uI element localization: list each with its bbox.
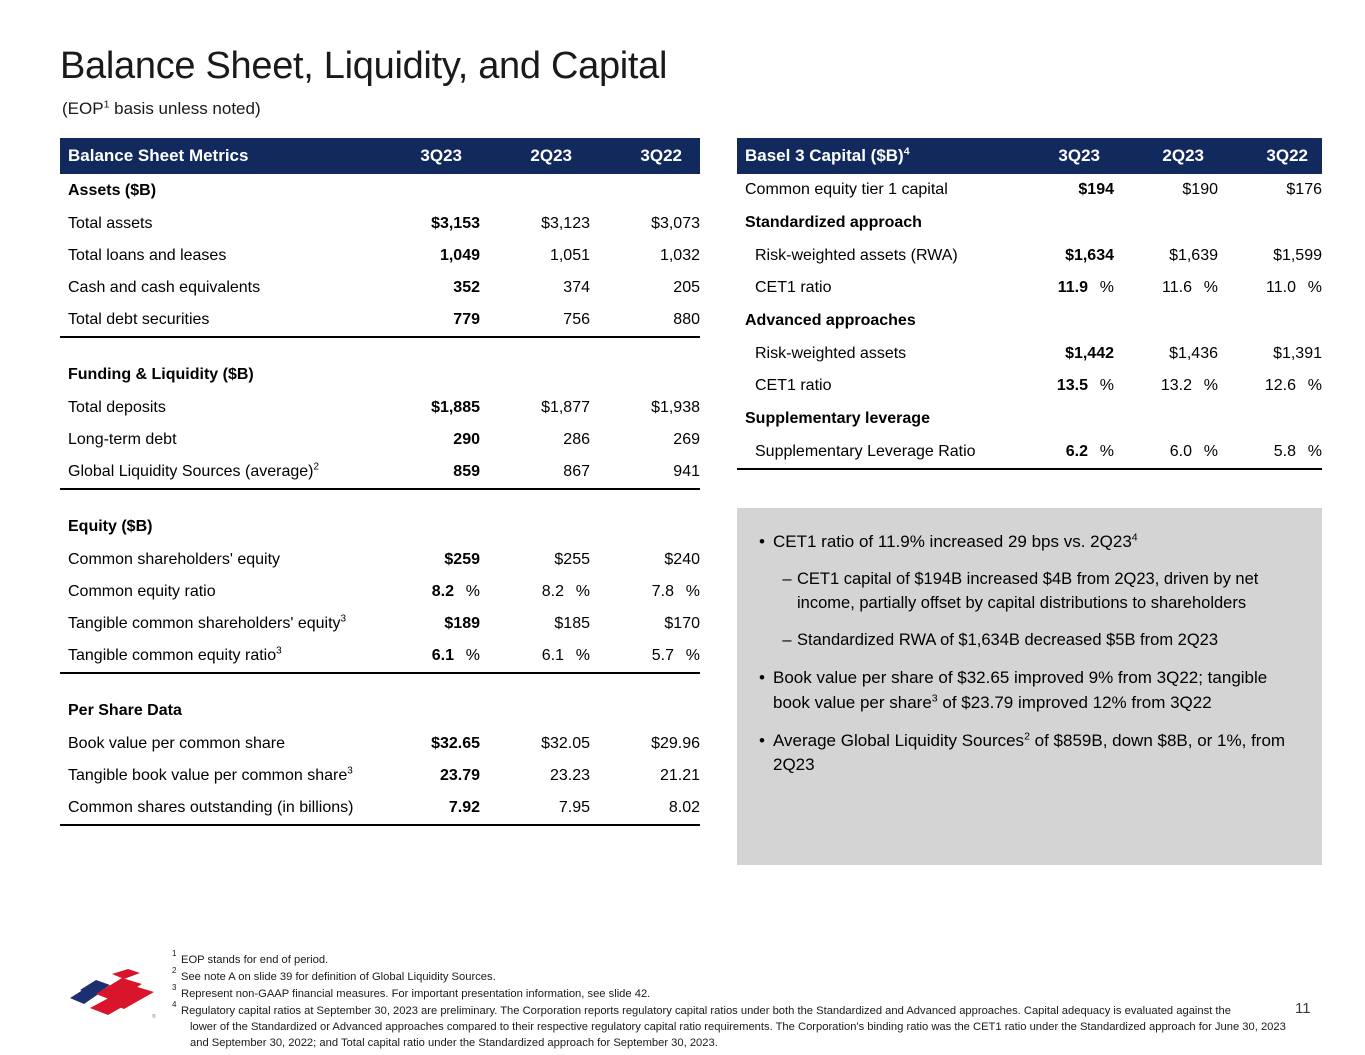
- right-header-col-2q23: 2Q23: [1100, 146, 1204, 166]
- percent-sign: %: [1088, 279, 1114, 297]
- table-row: Long-term debt290286269: [60, 424, 700, 456]
- footnote: 1EOP stands for end of period.: [172, 953, 1287, 969]
- bullet-marker: •: [751, 729, 773, 777]
- right-header-footnote-marker: 4: [904, 145, 910, 157]
- table-row: Book value per common share$32.65$32.05$…: [60, 728, 700, 760]
- table-row: CET1 ratio13.5%13.2%12.6%: [737, 370, 1322, 402]
- table-row: Total loans and leases1,0491,0511,032: [60, 240, 700, 272]
- bullet-text: Book value per share of $32.65 improved …: [773, 666, 1302, 714]
- left-header-col-3q23: 3Q23: [352, 146, 462, 166]
- table-row: Risk-weighted assets$1,442$1,436$1,391: [737, 338, 1322, 370]
- percent-sign: %: [1088, 443, 1114, 461]
- row-value: 290: [370, 431, 480, 449]
- percent-sign: %: [1296, 443, 1322, 461]
- right-header-col-3q22: 3Q22: [1204, 146, 1322, 166]
- table-row: Cash and cash equivalents352374205: [60, 272, 700, 304]
- commentary-bullet: •Book value per share of $32.65 improved…: [751, 666, 1302, 714]
- table-row: Common equity tier 1 capital$194$190$176: [737, 174, 1322, 206]
- percent-sign: %: [1192, 377, 1218, 395]
- row-footnote-marker: 3: [347, 766, 353, 777]
- left-header-col-3q22: 3Q22: [572, 146, 700, 166]
- row-value: 5.8%: [1218, 443, 1322, 461]
- row-value: $3,123: [480, 215, 590, 233]
- page-title: Balance Sheet, Liquidity, and Capital: [60, 45, 667, 88]
- table-row: Global Liquidity Sources (average)285986…: [60, 456, 700, 488]
- subtitle-post: basis unless noted): [109, 99, 260, 118]
- row-value: 8.2%: [370, 583, 480, 601]
- percent-sign: %: [564, 647, 590, 665]
- left-table-header: Balance Sheet Metrics 3Q23 2Q23 3Q22: [60, 138, 700, 174]
- percent-sign: %: [1296, 377, 1322, 395]
- bullet-text: Average Global Liquidity Sources2 of $85…: [773, 729, 1302, 777]
- left-header-label: Balance Sheet Metrics: [60, 146, 352, 166]
- row-value: 756: [480, 311, 590, 329]
- row-value: 11.6%: [1114, 279, 1218, 297]
- row-value: $189: [370, 615, 480, 633]
- section-title: Funding & Liquidity ($B): [60, 366, 700, 384]
- footnote-text: Regulatory capital ratios at September 3…: [181, 1004, 1287, 1052]
- row-value: 8.02: [590, 799, 700, 817]
- row-label: Long-term debt: [60, 431, 370, 449]
- row-label: Common shareholders' equity: [60, 551, 370, 569]
- row-value: 5.7%: [590, 647, 700, 665]
- section-title-row: Equity ($B): [60, 510, 700, 544]
- basel-3-capital-table: Basel 3 Capital ($B)4 3Q23 2Q23 3Q22 Com…: [737, 138, 1322, 470]
- footnote-text: EOP stands for end of period.: [181, 953, 1287, 969]
- table-row: Common shareholders' equity$259$255$240: [60, 544, 700, 576]
- right-table-header: Basel 3 Capital ($B)4 3Q23 2Q23 3Q22: [737, 138, 1322, 174]
- footnote-continuation: lower of the Standardized or Advanced ap…: [181, 1020, 1287, 1052]
- row-value: 8.2%: [480, 583, 590, 601]
- row-value: 6.1%: [480, 647, 590, 665]
- left-table-body: Assets ($B)Total assets$3,153$3,123$3,07…: [60, 174, 700, 826]
- table-row: CET1 ratio11.9%11.6%11.0%: [737, 272, 1322, 304]
- row-value: $259: [370, 551, 480, 569]
- right-header-label: Basel 3 Capital ($B)4: [737, 146, 996, 166]
- section-divider: [60, 824, 700, 826]
- row-value: 6.0%: [1114, 443, 1218, 461]
- row-label: Cash and cash equivalents: [60, 279, 370, 297]
- table-row: Common shares outstanding (in billions)7…: [60, 792, 700, 824]
- section-spacer: [60, 338, 700, 358]
- table-row: Tangible common shareholders' equity3$18…: [60, 608, 700, 640]
- row-value: 7.95: [480, 799, 590, 817]
- table-row: Common equity ratio8.2%8.2%7.8%: [60, 576, 700, 608]
- row-value: 13.2%: [1114, 377, 1218, 395]
- table-row: Total deposits$1,885$1,877$1,938: [60, 392, 700, 424]
- section-spacer: [60, 674, 700, 694]
- percent-sign: %: [564, 583, 590, 601]
- footnotes: 1EOP stands for end of period.2See note …: [172, 953, 1287, 1052]
- row-label: Total debt securities: [60, 311, 370, 329]
- row-value: $29.96: [590, 735, 700, 753]
- section-title-row: Supplementary leverage: [737, 402, 1322, 436]
- row-value: 205: [590, 279, 700, 297]
- bullet-marker: –: [777, 629, 797, 652]
- row-value: 23.23: [480, 767, 590, 785]
- row-label: Tangible common equity ratio3: [60, 647, 370, 665]
- row-value: 7.92: [370, 799, 480, 817]
- section-title-row: Per Share Data: [60, 694, 700, 728]
- row-value: 11.0%: [1218, 279, 1322, 297]
- row-value: $1,877: [480, 399, 590, 417]
- row-label: Risk-weighted assets: [737, 345, 1010, 363]
- row-label: CET1 ratio: [737, 279, 1010, 297]
- row-footnote-marker: 3: [341, 614, 347, 625]
- row-value: $1,639: [1114, 247, 1218, 265]
- row-value: 859: [370, 463, 480, 481]
- row-label: Risk-weighted assets (RWA): [737, 247, 1010, 265]
- row-value: 880: [590, 311, 700, 329]
- right-table-body: Common equity tier 1 capital$194$190$176…: [737, 174, 1322, 470]
- page-subtitle: (EOP1 basis unless noted): [62, 99, 261, 119]
- bullet-text: CET1 ratio of 11.9% increased 29 bps vs.…: [773, 530, 1302, 554]
- table-row: Total debt securities779756880: [60, 304, 700, 336]
- row-value: $1,885: [370, 399, 480, 417]
- row-value: 21.21: [590, 767, 700, 785]
- row-value: $1,436: [1114, 345, 1218, 363]
- bullet-text: Standardized RWA of $1,634B decreased $5…: [797, 629, 1302, 652]
- page-number: 11: [1295, 1000, 1311, 1017]
- bank-of-america-logo: ®: [66, 968, 164, 1020]
- subtitle-pre: (EOP: [62, 99, 104, 118]
- section-title: Supplementary leverage: [737, 410, 1322, 428]
- bullet-footnote-marker: 2: [1024, 730, 1030, 742]
- row-value: $3,153: [370, 215, 480, 233]
- bullet-marker: –: [777, 568, 797, 615]
- row-label: Global Liquidity Sources (average)2: [60, 463, 370, 481]
- table-row: Total assets$3,153$3,123$3,073: [60, 208, 700, 240]
- percent-sign: %: [1088, 377, 1114, 395]
- section-title-row: Funding & Liquidity ($B): [60, 358, 700, 392]
- row-value: 286: [480, 431, 590, 449]
- percent-sign: %: [1192, 279, 1218, 297]
- left-header-col-2q23: 2Q23: [462, 146, 572, 166]
- row-value: $1,634: [1010, 247, 1114, 265]
- footnote: 3Represent non-GAAP financial measures. …: [172, 987, 1287, 1003]
- table-row: Tangible book value per common share323.…: [60, 760, 700, 792]
- row-label: Common shares outstanding (in billions): [60, 799, 370, 817]
- row-label: Common equity tier 1 capital: [737, 181, 1010, 199]
- row-value: $1,599: [1218, 247, 1322, 265]
- commentary-box: •CET1 ratio of 11.9% increased 29 bps vs…: [737, 508, 1322, 865]
- row-value: $1,442: [1010, 345, 1114, 363]
- section-title-row: Standardized approach: [737, 206, 1322, 240]
- row-value: 1,032: [590, 247, 700, 265]
- svg-text:®: ®: [152, 1013, 156, 1020]
- bullet-marker: •: [751, 666, 773, 714]
- row-value: $1,938: [590, 399, 700, 417]
- commentary-bullet: •CET1 ratio of 11.9% increased 29 bps vs…: [751, 530, 1302, 554]
- row-value: $32.65: [370, 735, 480, 753]
- row-value: 7.8%: [590, 583, 700, 601]
- row-value: $176: [1218, 181, 1322, 199]
- row-value: $240: [590, 551, 700, 569]
- row-value: 6.2%: [1010, 443, 1114, 461]
- row-value: 6.1%: [370, 647, 480, 665]
- row-value: 374: [480, 279, 590, 297]
- footnote-text: Represent non-GAAP financial measures. F…: [181, 987, 1287, 1003]
- footnote-number: 4: [172, 1004, 181, 1052]
- bullet-footnote-marker: 4: [1132, 531, 1138, 543]
- row-label: Total assets: [60, 215, 370, 233]
- section-title: Assets ($B): [60, 182, 700, 200]
- percent-sign: %: [674, 583, 700, 601]
- bullet-text: CET1 capital of $194B increased $4B from…: [797, 568, 1302, 615]
- footnote-text: See note A on slide 39 for definition of…: [181, 970, 1287, 986]
- percent-sign: %: [454, 583, 480, 601]
- footnote: 2See note A on slide 39 for definition o…: [172, 970, 1287, 986]
- row-value: 13.5%: [1010, 377, 1114, 395]
- row-value: 1,049: [370, 247, 480, 265]
- row-value: 941: [590, 463, 700, 481]
- row-value: $3,073: [590, 215, 700, 233]
- commentary-bullet: •Average Global Liquidity Sources2 of $8…: [751, 729, 1302, 777]
- commentary-bullet: –Standardized RWA of $1,634B decreased $…: [751, 629, 1302, 652]
- row-value: $190: [1114, 181, 1218, 199]
- percent-sign: %: [454, 647, 480, 665]
- row-footnote-marker: 3: [276, 646, 282, 657]
- row-label: Book value per common share: [60, 735, 370, 753]
- row-value: $32.05: [480, 735, 590, 753]
- row-value: 11.9%: [1010, 279, 1114, 297]
- row-label: Common equity ratio: [60, 583, 370, 601]
- section-title: Equity ($B): [60, 518, 700, 536]
- percent-sign: %: [1296, 279, 1322, 297]
- section-title: Advanced approaches: [737, 312, 1322, 330]
- row-label: CET1 ratio: [737, 377, 1010, 395]
- row-label: Supplementary Leverage Ratio: [737, 443, 1010, 461]
- section-title-row: Assets ($B): [60, 174, 700, 208]
- section-title: Per Share Data: [60, 702, 700, 720]
- section-title: Standardized approach: [737, 214, 1322, 232]
- row-value: $1,391: [1218, 345, 1322, 363]
- row-label: Tangible common shareholders' equity3: [60, 615, 370, 633]
- table-row: Supplementary Leverage Ratio6.2%6.0%5.8%: [737, 436, 1322, 468]
- bullet-marker: •: [751, 530, 773, 554]
- row-label: Total loans and leases: [60, 247, 370, 265]
- section-title-row: Advanced approaches: [737, 304, 1322, 338]
- row-value: 1,051: [480, 247, 590, 265]
- bullet-footnote-marker: 3: [932, 692, 938, 704]
- row-value: 12.6%: [1218, 377, 1322, 395]
- row-label: Tangible book value per common share3: [60, 767, 370, 785]
- row-label: Total deposits: [60, 399, 370, 417]
- row-value: $170: [590, 615, 700, 633]
- table-row: Risk-weighted assets (RWA)$1,634$1,639$1…: [737, 240, 1322, 272]
- row-value: 269: [590, 431, 700, 449]
- row-value: $185: [480, 615, 590, 633]
- row-value: $255: [480, 551, 590, 569]
- percent-sign: %: [674, 647, 700, 665]
- footnote: 4Regulatory capital ratios at September …: [172, 1004, 1287, 1052]
- table-row: Tangible common equity ratio36.1%6.1%5.7…: [60, 640, 700, 672]
- right-header-col-3q23: 3Q23: [996, 146, 1100, 166]
- commentary-bullet: –CET1 capital of $194B increased $4B fro…: [751, 568, 1302, 615]
- slide-root: Balance Sheet, Liquidity, and Capital (E…: [0, 0, 1365, 1055]
- row-footnote-marker: 2: [313, 462, 319, 473]
- row-value: 779: [370, 311, 480, 329]
- balance-sheet-metrics-table: Balance Sheet Metrics 3Q23 2Q23 3Q22 Ass…: [60, 138, 700, 826]
- section-spacer: [60, 490, 700, 510]
- row-value: 867: [480, 463, 590, 481]
- row-value: 23.79: [370, 767, 480, 785]
- percent-sign: %: [1192, 443, 1218, 461]
- row-value: 352: [370, 279, 480, 297]
- row-value: $194: [1010, 181, 1114, 199]
- table-bottom-divider: [737, 468, 1322, 470]
